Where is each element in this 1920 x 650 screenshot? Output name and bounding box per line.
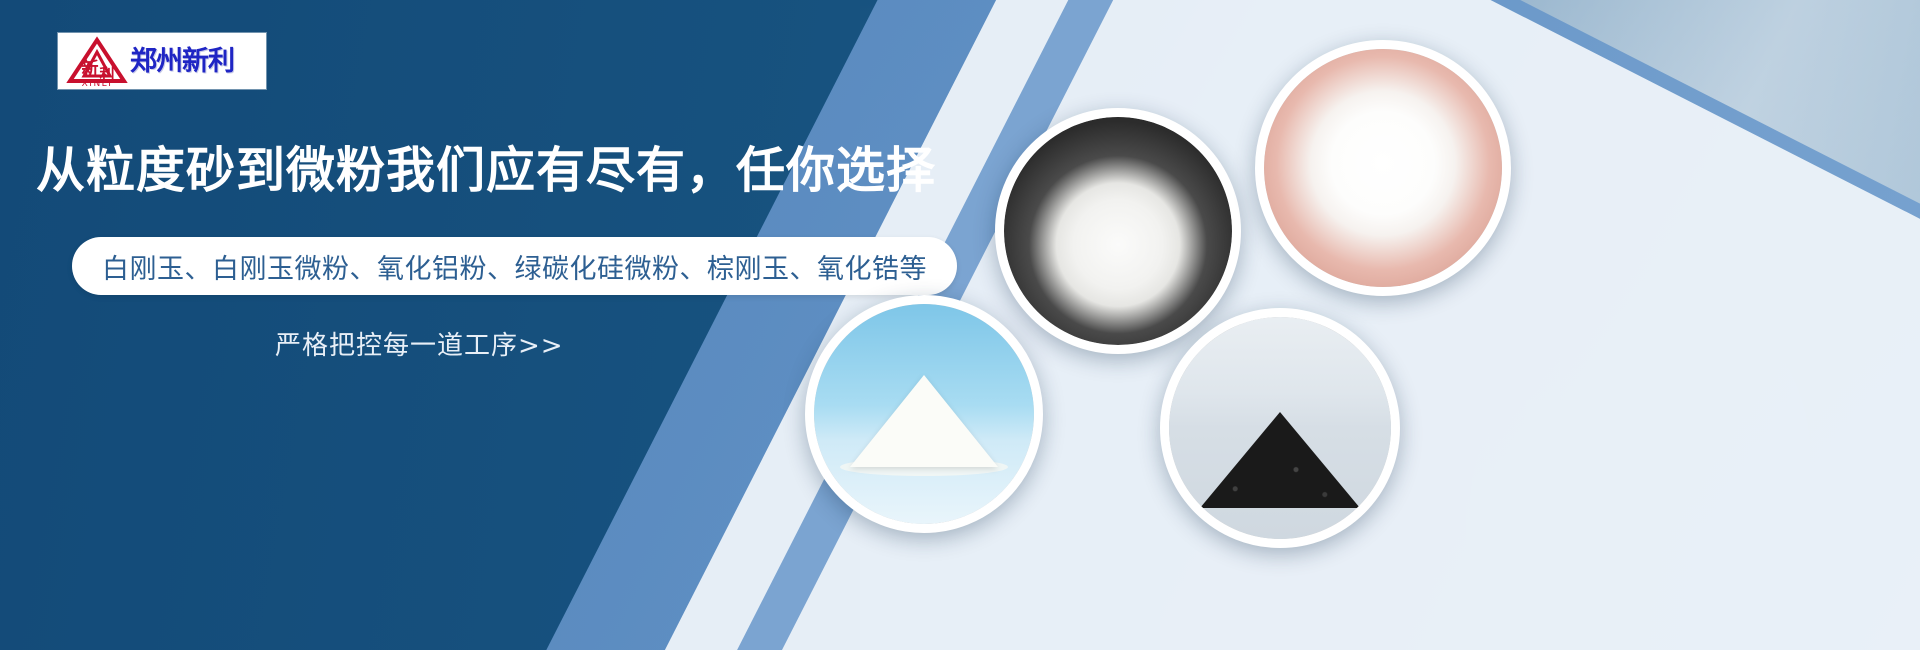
product-list-pill: 白刚玉、白刚玉微粉、氧化铝粉、绿碳化硅微粉、棕刚玉、氧化锆等 [72,237,957,295]
product-image-green-silicon-carbide[interactable] [1160,308,1400,548]
svg-text:XINLI: XINLI [82,79,113,87]
promo-banner: 新 利 XINLI 郑州新利 从粒度砂到微粉我们应有尽有，任你选择 白刚玉、白刚… [0,0,1920,650]
page-title: 从粒度砂到微粉我们应有尽有，任你选择 [36,142,936,200]
product-photo [814,304,1034,524]
company-logo[interactable]: 新 利 XINLI 郑州新利 [58,33,266,89]
grit-pile [1200,412,1360,508]
logo-wordmark: 郑州新利 [130,48,234,75]
product-image-white-alumina-micropowder[interactable] [1255,40,1511,296]
product-image-alumina-powder-cone[interactable] [805,295,1043,533]
product-photo [1264,49,1502,287]
powder-cone [850,375,998,467]
cta-link[interactable]: 严格把控每一道工序>> [275,325,564,362]
xinli-triangle-icon: 新 利 XINLI [66,35,128,87]
product-photo [1169,317,1391,539]
product-image-white-fused-alumina-grit[interactable] [995,108,1241,354]
product-list-text: 白刚玉、白刚玉微粉、氧化铝粉、绿碳化硅微粉、棕刚玉、氧化锆等 [102,247,927,286]
svg-text:新: 新 [82,58,99,79]
product-photo [1004,117,1232,345]
